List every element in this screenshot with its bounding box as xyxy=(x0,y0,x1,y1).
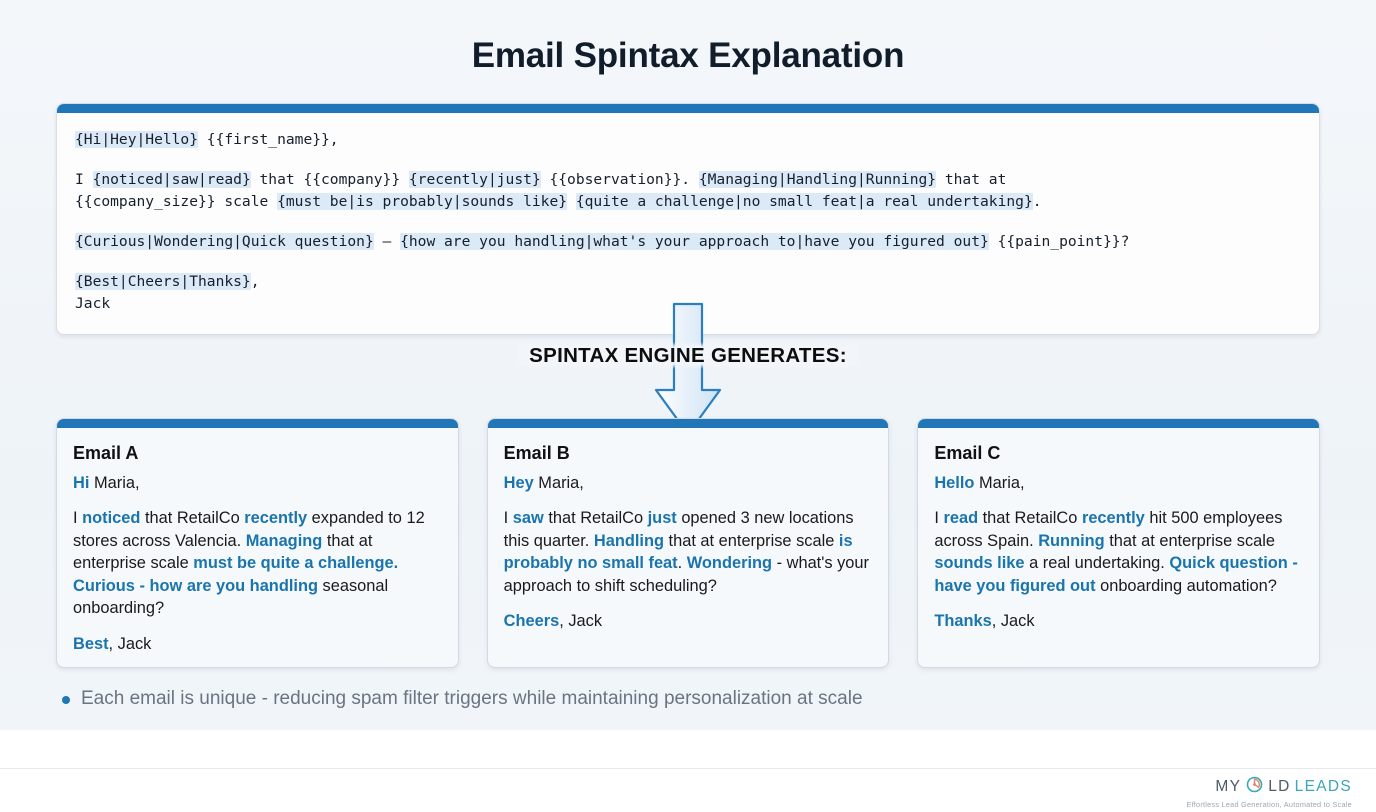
card-accent-bar xyxy=(918,419,1319,428)
card-accent-bar xyxy=(488,419,889,428)
panel-accent-bar xyxy=(57,104,1319,113)
email-static-text: that at enterprise scale xyxy=(664,532,839,550)
logo-word-my: MY xyxy=(1215,778,1241,796)
template-static-text: {{pain_point}}? xyxy=(989,233,1130,250)
spin-variant-text: Hello xyxy=(934,474,974,492)
email-static-text: I xyxy=(73,509,82,527)
spin-variant-text: noticed xyxy=(82,509,140,527)
email-card-line: Hey Maria, xyxy=(504,472,873,495)
spin-variant-text: read xyxy=(943,509,978,527)
email-card-line: Thanks, Jack xyxy=(934,610,1303,633)
spintax-token: {quite a challenge|no small feat|a real … xyxy=(576,193,1033,210)
email-static-text: Maria, xyxy=(534,474,584,492)
spin-variant-text: Best xyxy=(73,635,109,653)
spin-variant-text: recently xyxy=(244,509,307,527)
brand-logo: MY LD LEADS Effortless Lead Generation, … xyxy=(1186,776,1352,809)
email-static-text: , Jack xyxy=(992,612,1035,630)
spin-variant-text: Hi xyxy=(73,474,89,492)
logo-word-ld: LD xyxy=(1268,778,1290,796)
email-card-line: Best, Jack xyxy=(73,633,442,656)
footnote-text: Each email is unique - reducing spam fil… xyxy=(81,688,863,710)
spin-variant-text: must be quite a challenge. xyxy=(193,554,398,572)
email-static-text: , Jack xyxy=(559,612,602,630)
email-card-line: Hello Maria, xyxy=(934,472,1303,495)
email-card-title: Email B xyxy=(504,442,873,465)
card-accent-bar xyxy=(57,419,458,428)
email-card-body: Email BHey Maria,I saw that RetailCo jus… xyxy=(488,428,889,645)
template-paragraph-greeting: {Hi|Hey|Hello} {{first_name}}, xyxy=(75,129,1301,151)
spin-variant-text: Wondering xyxy=(687,554,772,572)
spin-variant-text: have you figured out xyxy=(934,577,1095,595)
template-static-text: . xyxy=(1033,193,1042,210)
email-static-text: that RetailCo xyxy=(544,509,648,527)
logo-wordmark: MY LD LEADS xyxy=(1186,776,1352,798)
spin-variant-text: - xyxy=(135,577,150,595)
spin-variant-text: Running xyxy=(1038,532,1104,550)
spin-variant-text: - xyxy=(1288,554,1298,572)
template-paragraph-question: {Curious|Wondering|Quick question} – {ho… xyxy=(75,231,1301,253)
email-card-line: I read that RetailCo recently hit 500 em… xyxy=(934,507,1303,597)
generated-emails-row: Email AHi Maria,I noticed that RetailCo … xyxy=(56,418,1320,668)
spintax-token: {noticed|saw|read} xyxy=(93,171,251,188)
spintax-token: {Hi|Hey|Hello} xyxy=(75,131,198,148)
engine-label-text: SPINTAX ENGINE GENERATES: xyxy=(519,342,857,369)
spin-variant-text: saw xyxy=(513,509,544,527)
email-card-line: I saw that RetailCo just opened 3 new lo… xyxy=(504,507,873,597)
spin-variant-text: Hey xyxy=(504,474,534,492)
spin-variant-text: Curious xyxy=(73,577,135,595)
email-card-title: Email C xyxy=(934,442,1303,465)
spin-variant-text: recently xyxy=(1082,509,1145,527)
email-card-body: Email AHi Maria,I noticed that RetailCo … xyxy=(57,428,458,667)
page-title: Email Spintax Explanation xyxy=(0,36,1376,76)
spintax-token: {recently|just} xyxy=(409,171,541,188)
email-card-line: I noticed that RetailCo recently expande… xyxy=(73,507,442,620)
spintax-token: {must be|is probably|sounds like} xyxy=(277,193,567,210)
spintax-template-text: {Hi|Hey|Hello} {{first_name}},I {noticed… xyxy=(57,113,1319,325)
spintax-token: {Best|Cheers|Thanks} xyxy=(75,273,251,290)
spin-variant-text: Quick question xyxy=(1169,554,1287,572)
email-static-text: a real undertaking. xyxy=(1025,554,1170,572)
email-static-text: , Jack xyxy=(109,635,152,653)
email-card-title: Email A xyxy=(73,442,442,465)
logo-word-leads: LEADS xyxy=(1295,778,1352,796)
bullet-dot-icon xyxy=(62,696,70,704)
template-static-text: – xyxy=(374,233,400,250)
template-static-text: that {{company}} xyxy=(251,171,409,188)
email-static-text: . xyxy=(678,554,687,572)
email-card: Email AHi Maria,I noticed that RetailCo … xyxy=(56,418,459,668)
circular-logo-mark-icon xyxy=(1246,776,1263,798)
engine-label: SPINTAX ENGINE GENERATES: xyxy=(0,344,1376,368)
email-card: Email CHello Maria,I read that RetailCo … xyxy=(917,418,1320,668)
template-static-text: I xyxy=(75,171,93,188)
spin-variant-text: sounds like xyxy=(934,554,1024,572)
footer-divider xyxy=(0,768,1376,769)
logo-tagline: Effortless Lead Generation, Automated to… xyxy=(1186,800,1352,809)
spin-variant-text: Managing xyxy=(246,532,323,550)
email-static-text: onboarding automation? xyxy=(1096,577,1277,595)
template-static-text: {{observation}}. xyxy=(541,171,699,188)
email-card-line: Cheers, Jack xyxy=(504,610,873,633)
email-static-text: Maria, xyxy=(89,474,139,492)
email-static-text: I xyxy=(504,509,513,527)
spin-variant-text: how are you handling xyxy=(150,577,318,595)
template-static-text: {{first_name}}, xyxy=(198,131,339,148)
infographic-page: Email Spintax Explanation {Hi|Hey|Hello}… xyxy=(0,0,1376,812)
spintax-template-panel: {Hi|Hey|Hello} {{first_name}},I {noticed… xyxy=(56,103,1320,335)
spin-variant-text: Handling xyxy=(594,532,664,550)
spin-variant-text: Thanks xyxy=(934,612,991,630)
spin-variant-text: just xyxy=(648,509,677,527)
email-static-text: that RetailCo xyxy=(140,509,244,527)
email-card-body: Email CHello Maria,I read that RetailCo … xyxy=(918,428,1319,645)
email-static-text: that RetailCo xyxy=(978,509,1082,527)
email-card: Email BHey Maria,I saw that RetailCo jus… xyxy=(487,418,890,668)
email-static-text: Maria, xyxy=(974,474,1024,492)
footnote: Each email is unique - reducing spam fil… xyxy=(62,688,863,710)
spintax-token: {Managing|Handling|Running} xyxy=(699,171,936,188)
spintax-token: {how are you handling|what's your approa… xyxy=(400,233,989,250)
spin-variant-text: Cheers xyxy=(504,612,560,630)
email-static-text: that at enterprise scale xyxy=(1105,532,1275,550)
template-static-text xyxy=(567,193,576,210)
email-card-line: Hi Maria, xyxy=(73,472,442,495)
footer-band xyxy=(0,730,1376,812)
spintax-token: {Curious|Wondering|Quick question} xyxy=(75,233,374,250)
template-paragraph-opening: I {noticed|saw|read} that {{company}} {r… xyxy=(75,169,1301,213)
